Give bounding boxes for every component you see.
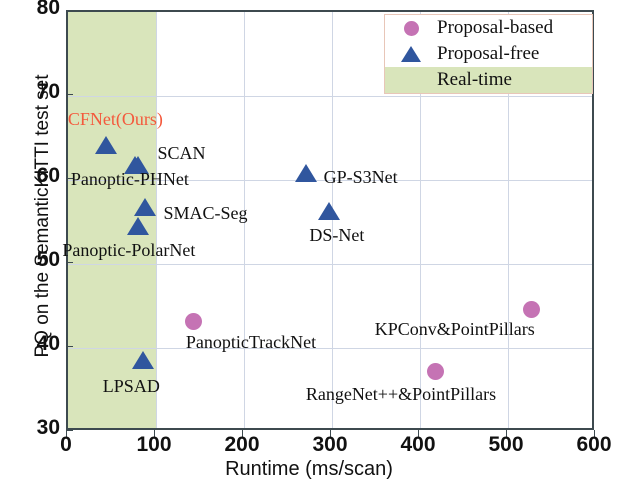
data-point-label: SCAN: [158, 143, 206, 164]
legend-label: Proposal-free: [437, 43, 539, 65]
data-point-label: KPConv&PointPillars: [375, 319, 535, 340]
grid-line-vertical: [332, 12, 333, 428]
grid-line-horizontal: [68, 264, 592, 265]
grid-line-vertical: [156, 12, 157, 428]
y-axis-tick: [66, 10, 73, 11]
legend-item: Proposal-free: [385, 41, 592, 67]
legend-marker-triangle-icon: [385, 46, 437, 62]
data-point-label: LPSAD: [103, 376, 160, 397]
x-axis-tick-label: 400: [383, 433, 453, 457]
chart-legend: Proposal-basedProposal-freeReal-time: [384, 14, 593, 94]
data-point-marker: [318, 202, 340, 220]
data-point-marker: [132, 351, 154, 369]
x-axis-tick-label: 600: [559, 433, 618, 457]
scatter-chart-figure: PQ on the SemanticKITTI test set Runtime…: [0, 0, 618, 490]
x-axis-tick-label: 500: [471, 433, 541, 457]
data-point-marker: [95, 136, 117, 154]
y-axis-tick: [66, 346, 73, 347]
legend-label: Real-time: [437, 69, 512, 91]
y-axis-tick-label: 80: [6, 0, 60, 20]
y-axis-tick: [66, 94, 73, 95]
data-point-label: GP-S3Net: [324, 167, 398, 188]
grid-line-horizontal: [68, 348, 592, 349]
legend-circle-icon: [404, 21, 419, 36]
legend-triangle-icon: [401, 46, 421, 62]
y-axis-tick-label: 40: [6, 332, 60, 356]
x-axis-tick-label: 200: [207, 433, 277, 457]
data-point-label: SMAC-Seg: [163, 203, 247, 224]
data-point-label: DS-Net: [309, 225, 364, 246]
data-point-marker: [134, 198, 156, 216]
y-axis-tick: [66, 262, 73, 263]
x-axis-tick-label: 100: [119, 433, 189, 457]
grid-line-horizontal: [68, 96, 592, 97]
y-axis-tick-label: 50: [6, 248, 60, 272]
data-point-label: PanopticTrackNet: [186, 332, 316, 353]
data-point-label: CFNet(Ours): [68, 109, 163, 130]
legend-marker-circle-icon: [385, 21, 437, 36]
data-point-marker: [127, 217, 149, 235]
data-point-marker: [295, 164, 317, 182]
y-axis-tick-label: 60: [6, 164, 60, 188]
x-axis-tick-label: 300: [295, 433, 365, 457]
legend-item: Proposal-based: [385, 15, 592, 41]
data-point-label: Panoptic-PolarNet: [62, 240, 195, 261]
data-point-label: Panoptic-PHNet: [71, 169, 189, 190]
x-axis-label: Runtime (ms/scan): [0, 458, 618, 481]
y-axis-tick-label: 70: [6, 80, 60, 104]
y-axis-tick: [66, 430, 73, 431]
legend-item: Real-time: [385, 67, 592, 93]
y-axis-tick-label: 30: [6, 416, 60, 440]
data-point-marker: [185, 313, 202, 330]
data-point-marker: [427, 363, 444, 380]
data-point-marker: [523, 301, 540, 318]
data-point-label: RangeNet++&PointPillars: [306, 384, 496, 405]
legend-label: Proposal-based: [437, 17, 553, 39]
